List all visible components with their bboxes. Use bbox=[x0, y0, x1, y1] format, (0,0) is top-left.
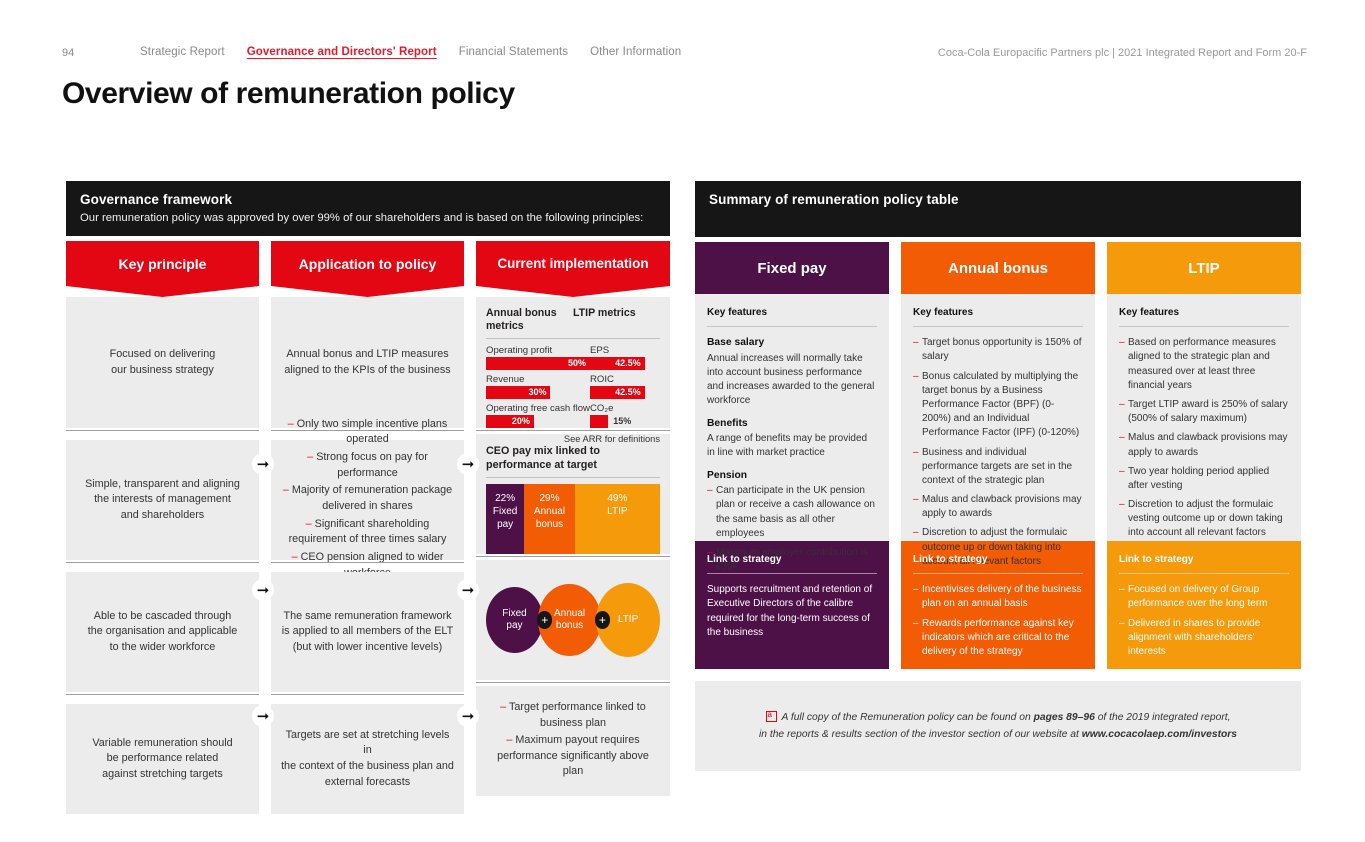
divider bbox=[913, 326, 1083, 327]
policy-column-ltip: LTIP Key features –Based on performance … bbox=[1107, 242, 1301, 669]
footnote-line2-part1: in the reports & results section of the … bbox=[759, 729, 1082, 740]
policy-column-annual-bonus: Annual bonus Key features –Target bonus … bbox=[901, 242, 1095, 669]
connector-arrow-6: ➞ bbox=[457, 705, 479, 727]
row-separator bbox=[476, 554, 670, 560]
chevron-down-icon bbox=[66, 286, 259, 297]
policy-column-fixed-pay: Fixed pay Key features Base salary Annua… bbox=[695, 242, 889, 669]
metric-bar-operating-profit: 50% bbox=[486, 357, 590, 370]
application-cell-2: – Only two simple incentive plans operat… bbox=[271, 440, 464, 560]
key-principle-cell-3: Able to be cascaded through the organisa… bbox=[66, 572, 259, 692]
governance-framework-header: Governance framework Our remuneration po… bbox=[66, 181, 670, 236]
pay-mix-segment-fixed-pay: 22% Fixed pay bbox=[486, 484, 524, 554]
list-item: –Target LTIP award is 250% of salary (50… bbox=[1119, 398, 1289, 426]
column-header-current-implementation: Current implementation bbox=[476, 241, 670, 286]
section-text-base-salary: Annual increases will normally take into… bbox=[707, 352, 877, 409]
connector-arrow-2: ➞ bbox=[252, 579, 274, 601]
policy-columns: Fixed pay Key features Base salary Annua… bbox=[695, 242, 1301, 669]
section-heading-pension: Pension bbox=[707, 469, 877, 484]
list-item: –Delivered in shares to provide alignmen… bbox=[1119, 617, 1289, 660]
chevron-down-icon bbox=[271, 286, 464, 297]
implementation-bullet-list: – Target performance linked to business … bbox=[486, 700, 660, 782]
metrics-headings: Annual bonus metrics LTIP metrics bbox=[486, 307, 660, 333]
document-reference: Coca-Cola Europacific Partners plc | 202… bbox=[938, 47, 1307, 59]
row-separator bbox=[66, 428, 259, 434]
application-cell-4: Targets are set at stretching levels in … bbox=[271, 704, 464, 814]
section-nav: Strategic Report Governance and Director… bbox=[140, 46, 681, 58]
key-features-bullet-list: –Target bonus opportunity is 150% of sal… bbox=[913, 336, 1083, 569]
list-item: –Discretion to adjust the formulaic vest… bbox=[1119, 498, 1289, 541]
column-header-key-principle: Key principle bbox=[66, 241, 259, 286]
link-to-strategy-text: Supports recruitment and retention of Ex… bbox=[707, 583, 877, 640]
pay-mix-segment-ltip: 49% LTIP bbox=[575, 484, 660, 554]
key-features-fixed-pay: Key features Base salary Annual increase… bbox=[695, 294, 889, 541]
nav-item-financial-statements[interactable]: Financial Statements bbox=[459, 46, 568, 58]
list-item: – Significant shareholding requirement o… bbox=[281, 517, 454, 548]
plus-icon: + bbox=[595, 611, 611, 629]
metric-label: Operating profit bbox=[486, 345, 590, 356]
ltip-metrics-title: LTIP metrics bbox=[573, 307, 660, 333]
chevron-down-icon bbox=[476, 286, 670, 297]
nav-item-other-information[interactable]: Other Information bbox=[590, 46, 681, 58]
summary-policy-table-panel: Summary of remuneration policy table Fix… bbox=[695, 181, 1301, 771]
policy-column-header-fixed-pay: Fixed pay bbox=[695, 242, 889, 294]
key-principle-cell-1: Focused on delivering our business strat… bbox=[66, 297, 259, 428]
column-header-application-to-policy: Application to policy bbox=[271, 241, 464, 286]
governance-framework-subtitle: Our remuneration policy was approved by … bbox=[80, 212, 656, 224]
row-separator bbox=[271, 692, 464, 698]
metric-bar-co2e: 15% bbox=[590, 415, 608, 428]
column-header-label: Key principle bbox=[119, 256, 207, 272]
application-cell-1: Annual bonus and LTIP measures aligned t… bbox=[271, 297, 464, 428]
link-to-strategy-bullet-list: –Focused on delivery of Group performanc… bbox=[1119, 583, 1289, 659]
governance-framework-panel: Governance framework Our remuneration po… bbox=[66, 181, 670, 814]
annual-bonus-metrics-title: Annual bonus metrics bbox=[486, 307, 573, 333]
footnote-line1-part2: of the 2019 integrated report, bbox=[1095, 712, 1231, 723]
row-separator bbox=[271, 560, 464, 566]
metric-label: Operating free cash flow bbox=[486, 403, 590, 414]
page-number: 94 bbox=[62, 47, 74, 59]
key-features-title: Key features bbox=[707, 306, 877, 320]
list-item: –Rewards performance against key indicat… bbox=[913, 617, 1083, 660]
row-separator bbox=[66, 692, 259, 698]
summary-policy-header: Summary of remuneration policy table bbox=[695, 181, 1301, 237]
column-header-label: Current implementation bbox=[497, 256, 648, 271]
row-separator bbox=[476, 428, 670, 434]
ceo-pay-mix-stacked-bar: 22% Fixed pay 29% Annual bonus 49% LTIP bbox=[486, 484, 660, 554]
key-principle-cell-4: Variable remuneration should be performa… bbox=[66, 704, 259, 814]
link-to-strategy-title: Link to strategy bbox=[1119, 553, 1289, 567]
divider bbox=[1119, 326, 1289, 327]
list-item: – Majority of remuneration package deliv… bbox=[281, 483, 454, 514]
metric-label: CO₂e bbox=[590, 403, 660, 414]
implementation-cell-4: – Target performance linked to business … bbox=[476, 686, 670, 796]
metric-label: ROIC bbox=[590, 374, 660, 385]
divider bbox=[486, 477, 660, 478]
metric-bar-eps: 42.5% bbox=[590, 357, 645, 370]
policy-footnote: A full copy of the Remuneration policy c… bbox=[695, 681, 1301, 771]
list-item: –Incentivises delivery of the business p… bbox=[913, 583, 1083, 611]
ceo-pay-mix-title: CEO pay mix linked to performance at tar… bbox=[486, 444, 660, 472]
policy-column-header-annual-bonus: Annual bonus bbox=[901, 242, 1095, 294]
key-features-ltip: Key features –Based on performance measu… bbox=[1107, 294, 1301, 541]
footnote-website[interactable]: www.cocacolaep.com/investors bbox=[1082, 729, 1237, 740]
list-item: –Malus and clawback provisions may apply… bbox=[1119, 431, 1289, 459]
page-header: 94 Strategic Report Governance and Direc… bbox=[0, 44, 1365, 66]
divider bbox=[707, 326, 877, 327]
section-heading-base-salary: Base salary bbox=[707, 336, 877, 351]
circle-fixed-pay: Fixed pay bbox=[486, 587, 543, 653]
pay-components-diagram: Fixed pay + Annual bonus + LTIP bbox=[476, 560, 670, 680]
summary-policy-title: Summary of remuneration policy table bbox=[709, 192, 1287, 207]
list-item: –Bonus calculated by multiplying the tar… bbox=[913, 370, 1083, 441]
connector-arrow-4: ➞ bbox=[457, 453, 479, 475]
section-heading-benefits: Benefits bbox=[707, 417, 877, 432]
list-item: –Two year holding period applied after v… bbox=[1119, 465, 1289, 493]
row-separator bbox=[66, 560, 259, 566]
ceo-pay-mix-block: CEO pay mix linked to performance at tar… bbox=[476, 434, 670, 554]
column-key-principle: Key principle Focused on delivering our … bbox=[66, 241, 259, 814]
list-item: –Can participate in the UK pension plan … bbox=[707, 484, 877, 541]
key-principle-cell-2: Simple, transparent and aligning the int… bbox=[66, 440, 259, 560]
list-item: –Based on performance measures aligned t… bbox=[1119, 336, 1289, 393]
policy-column-header-ltip: LTIP bbox=[1107, 242, 1301, 294]
key-features-bullet-list: –Based on performance measures aligned t… bbox=[1119, 336, 1289, 540]
metric-bar-roic: 42.5% bbox=[590, 386, 645, 399]
governance-framework-columns: ➞ ➞ ➞ ➞ ➞ ➞ Key principle Focused on del… bbox=[66, 241, 670, 814]
list-item: –Focused on delivery of Group performanc… bbox=[1119, 583, 1289, 611]
page-title: Overview of remuneration policy bbox=[62, 77, 515, 111]
metric-label: EPS bbox=[590, 345, 660, 356]
page-reference-icon bbox=[766, 711, 777, 722]
list-item: – Strong focus on pay for performance bbox=[281, 450, 454, 481]
ltip-metric-bars: EPS 42.5% ROIC 42.5% CO₂e 15% bbox=[590, 345, 660, 432]
key-features-annual-bonus: Key features –Target bonus opportunity i… bbox=[901, 294, 1095, 541]
section-text-benefits: A range of benefits may be provided in l… bbox=[707, 432, 877, 460]
metric-bar-revenue: 30% bbox=[486, 386, 550, 399]
nav-item-strategic-report[interactable]: Strategic Report bbox=[140, 46, 225, 58]
list-item: –Target bonus opportunity is 150% of sal… bbox=[913, 336, 1083, 364]
implementation-metrics-block: Annual bonus metrics LTIP metrics Operat… bbox=[476, 297, 670, 428]
list-item: –Business and individual performance tar… bbox=[913, 446, 1083, 489]
connector-arrow-5: ➞ bbox=[457, 579, 479, 601]
footnote-pages: pages 89–96 bbox=[1034, 712, 1095, 723]
list-item: – Only two simple incentive plans operat… bbox=[281, 417, 454, 448]
list-item: – Target performance linked to business … bbox=[486, 700, 660, 731]
link-to-strategy-ltip: Link to strategy –Focused on delivery of… bbox=[1107, 541, 1301, 669]
column-application-to-policy: Application to policy Annual bonus and L… bbox=[271, 241, 464, 814]
annual-bonus-metric-bars: Operating profit 50% Revenue 30% Operati… bbox=[486, 345, 590, 432]
application-cell-3: The same remuneration framework is appli… bbox=[271, 572, 464, 692]
column-current-implementation: Current implementation Annual bonus metr… bbox=[476, 241, 670, 814]
key-features-title: Key features bbox=[913, 306, 1083, 320]
list-item: – Maximum payout requires performance si… bbox=[486, 733, 660, 780]
connector-arrow-3: ➞ bbox=[252, 705, 274, 727]
footnote-line1-part1: A full copy of the Remuneration policy c… bbox=[782, 712, 1034, 723]
pay-mix-segment-annual-bonus: 29% Annual bonus bbox=[524, 484, 574, 554]
link-to-strategy-bullet-list: –Incentivises delivery of the business p… bbox=[913, 583, 1083, 659]
list-item: –Malus and clawback provisions may apply… bbox=[913, 493, 1083, 521]
key-features-title: Key features bbox=[1119, 306, 1289, 320]
governance-framework-title: Governance framework bbox=[80, 192, 656, 207]
divider bbox=[1119, 573, 1289, 574]
column-header-label: Application to policy bbox=[299, 256, 437, 272]
divider bbox=[913, 573, 1083, 574]
metric-bar-operating-free-cash-flow: 20% bbox=[486, 415, 534, 428]
nav-item-governance-and-directors-report[interactable]: Governance and Directors' Report bbox=[247, 46, 437, 58]
divider bbox=[486, 338, 660, 339]
metric-label: Revenue bbox=[486, 374, 590, 385]
connector-arrow-1: ➞ bbox=[252, 453, 274, 475]
application-bullet-list: – Only two simple incentive plans operat… bbox=[281, 417, 454, 583]
